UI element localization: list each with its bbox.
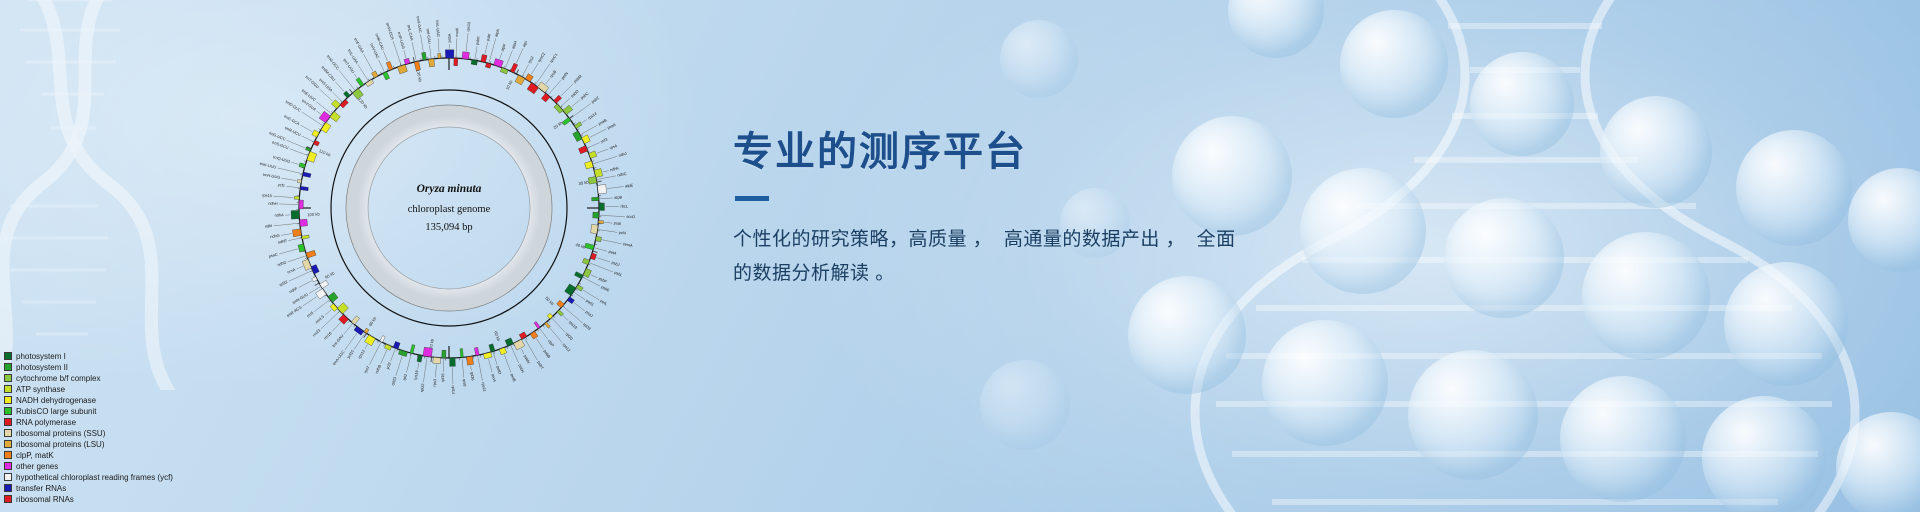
gene-feature	[500, 68, 508, 74]
gene-feature	[565, 284, 576, 296]
gene-feature	[460, 349, 463, 358]
gene-feature	[547, 313, 553, 319]
gene-label: rps3	[432, 379, 438, 387]
gene-feature	[474, 347, 479, 355]
molecule-bead	[1470, 52, 1574, 156]
kb-tick-label: 40 kb	[575, 242, 587, 250]
gene-feature	[585, 161, 594, 169]
legend-item: transfer RNAs	[4, 483, 173, 493]
gene-feature	[594, 169, 602, 178]
gene-label: ycf2	[385, 362, 392, 370]
gene-label: trnP-UGG	[397, 31, 407, 49]
gene-label: petB	[510, 373, 518, 383]
legend-color-swatch	[4, 429, 12, 437]
legend-color-swatch	[4, 363, 12, 371]
gene-label: ndhI	[265, 223, 273, 229]
gene-feature	[316, 289, 327, 299]
kb-tick-label: 10 kb	[505, 79, 514, 91]
gene-label: accD	[626, 214, 635, 219]
gene-feature	[592, 197, 599, 201]
gene-label: ndhF	[288, 285, 299, 294]
gene-label: ccsA	[286, 267, 296, 275]
gene-feature	[302, 259, 311, 270]
gene-feature	[438, 53, 441, 58]
gene-feature	[537, 82, 548, 93]
molecule-bead	[1848, 168, 1920, 272]
gene-label: ycf3	[600, 137, 609, 144]
legend-color-swatch	[4, 473, 12, 481]
gene-feature	[598, 220, 603, 223]
gene-feature	[597, 184, 606, 194]
gene-label: ndhA	[274, 212, 284, 217]
gene-label: psbI	[485, 33, 492, 41]
legend-color-swatch	[4, 407, 12, 415]
gene-label: psaI	[614, 220, 622, 226]
title-underline-rule	[735, 196, 769, 201]
gene-label: rpl22	[419, 383, 425, 392]
gene-feature	[467, 356, 474, 365]
gene-feature	[294, 196, 299, 199]
legend-color-swatch	[4, 495, 12, 503]
gene-label: trnV-GAC	[416, 16, 424, 33]
molecule-bead	[1128, 276, 1246, 394]
gene-label: ndhD	[277, 259, 288, 267]
gene-label: rps18	[568, 319, 579, 329]
legend-item: ATP synthase	[4, 384, 173, 394]
legend-color-swatch	[4, 462, 12, 470]
gene-feature	[519, 332, 527, 339]
gene-feature	[583, 268, 591, 277]
gene-feature	[525, 74, 533, 82]
gene-label: psbD	[570, 88, 580, 98]
kb-tick-label: 30 kb	[578, 179, 590, 186]
gene-label: rps19	[413, 370, 420, 381]
gene-label: rpoC2	[536, 51, 546, 63]
gene-label: psbA	[447, 33, 452, 42]
gene-feature	[514, 339, 525, 350]
page-title: 专业的测序平台	[733, 130, 1433, 174]
gene-feature	[299, 219, 307, 226]
molecule-bead	[1736, 130, 1852, 246]
gene-feature	[541, 93, 550, 102]
gene-feature	[445, 50, 454, 58]
gene-label: trnQ-UUG	[273, 154, 291, 164]
hero-subtitle-line-2: 的数据分析解读 。	[733, 257, 1263, 291]
kb-tick-label: 60 kb	[493, 330, 501, 342]
gene-feature	[312, 130, 320, 137]
gene-label: ndhC	[617, 171, 627, 178]
gene-feature	[454, 58, 458, 66]
gene-label: clpP	[547, 338, 556, 347]
gene-feature	[311, 265, 319, 274]
gene-label: petL	[599, 298, 609, 307]
gene-feature	[588, 176, 597, 184]
gene-feature	[494, 58, 504, 67]
gene-feature	[593, 212, 599, 218]
gene-feature	[590, 224, 598, 233]
gene-label: psbE	[600, 284, 611, 293]
molecule-bead	[1560, 376, 1686, 502]
kb-tick-label: 120 kb	[357, 97, 369, 110]
gene-feature	[481, 54, 487, 62]
gene-feature	[442, 350, 446, 358]
gene-label: ycf15	[346, 349, 355, 360]
gene-feature	[306, 250, 316, 258]
gene-feature	[397, 65, 407, 74]
gene-feature	[462, 52, 469, 60]
gene-feature	[300, 186, 308, 190]
gene-feature	[331, 100, 340, 109]
gene-label: trnG-UCC	[268, 130, 286, 141]
gene-label: psbK	[474, 35, 481, 45]
gene-feature	[562, 117, 571, 125]
gene-feature	[595, 236, 601, 241]
gene-feature	[505, 338, 513, 346]
gene-label: rpl33	[582, 322, 592, 331]
legend-item-label: ribosomal proteins (SSU)	[16, 429, 105, 438]
legend-color-swatch	[4, 440, 12, 448]
legend-item-label: ribosomal RNAs	[16, 495, 74, 504]
gene-label: trnR-UCU	[284, 125, 302, 137]
gene-feature	[534, 321, 540, 328]
kb-tick-label: 70 kb	[429, 338, 435, 349]
gene-label: cemA	[622, 241, 633, 248]
gene-label: rpl14	[451, 385, 456, 395]
gene-label: matK	[454, 27, 459, 37]
gene-label: ycf4	[618, 230, 627, 236]
gene-feature	[384, 344, 391, 350]
gene-label: ndhG	[270, 233, 280, 239]
legend-item-label: RNA polymerase	[16, 418, 76, 427]
gene-feature	[582, 135, 591, 144]
gene-feature	[545, 322, 551, 328]
gene-feature	[527, 83, 538, 94]
gene-label: rpl16	[440, 373, 445, 382]
legend-item-label: other genes	[16, 462, 58, 471]
gene-label: atpH	[510, 40, 518, 50]
legend-item-label: clpP, matK	[16, 451, 54, 460]
gene-label: psbT	[536, 360, 545, 371]
legend-color-swatch	[4, 396, 12, 404]
molecule-bead	[1702, 396, 1826, 512]
gene-label: rpoA	[491, 373, 498, 383]
molecule-bead	[1600, 96, 1712, 208]
gene-feature	[297, 179, 302, 183]
genome-map-svg: 10 kb20 kb30 kb40 kb50 kb60 kb70 kb80 kb…	[243, 2, 655, 414]
gene-label: psbM	[572, 74, 582, 84]
gene-label: ndhE	[277, 238, 287, 245]
gene-label: trnR-ACG	[286, 304, 303, 318]
gene-feature	[299, 163, 306, 168]
gene-label: psbH	[517, 363, 525, 374]
hero-banner: 10 kb20 kb30 kb40 kb50 kb60 kb70 kb80 kb…	[0, 0, 1920, 512]
gene-feature	[573, 131, 583, 142]
legend-item-label: hypothetical chloroplast reading frames …	[16, 473, 173, 482]
gene-label: rpl32	[278, 279, 288, 287]
gene-label: trnL-UAG	[435, 20, 441, 37]
molecule-bead	[1444, 198, 1564, 318]
gene-feature	[574, 272, 583, 279]
genome-species-name: Oryza minuta	[417, 183, 482, 195]
legend-item: ribosomal proteins (LSU)	[4, 439, 173, 449]
gene-label: psbF	[598, 276, 609, 284]
gene-feature	[302, 172, 311, 178]
legend-item: ribosomal RNAs	[4, 494, 173, 504]
kb-tick-label: 80 kb	[368, 315, 378, 327]
gene-feature	[471, 60, 477, 65]
gene-label: rps12	[562, 342, 572, 353]
gene-label: rpl36	[470, 372, 476, 381]
hero-subtitle: 个性化的研究策略，高质量 ， 高通量的数据产出 ， 全面 的数据分析解读 。	[733, 223, 1263, 291]
gene-label: psaJ	[585, 309, 595, 318]
gene-feature	[428, 59, 434, 67]
gene-label: atpI	[521, 40, 528, 48]
gene-feature	[530, 331, 538, 339]
gene-label: ndhB	[374, 364, 382, 375]
gene-feature	[307, 151, 317, 162]
gene-label: petD	[496, 365, 503, 375]
molecule-bead	[1340, 10, 1448, 118]
gene-feature	[510, 63, 517, 73]
legend-item: hypothetical chloroplast reading frames …	[4, 472, 173, 482]
gene-feature	[291, 210, 299, 219]
gene-feature	[599, 203, 605, 210]
gene-label: psaA	[606, 122, 617, 131]
gene-label: rps8	[462, 379, 468, 387]
gene-label: trnK-UUU	[259, 161, 277, 170]
legend-item: RubisCO large subunit	[4, 406, 173, 416]
gene-feature	[404, 58, 410, 64]
gene-label: trnS-GCU	[272, 140, 290, 151]
gene-feature	[328, 292, 338, 302]
gene-feature	[302, 235, 310, 239]
legend-item-label: ribosomal proteins (LSU)	[16, 440, 104, 449]
gene-feature	[330, 304, 338, 312]
genome-description: chloroplast genome	[408, 204, 491, 215]
legend-color-swatch	[4, 451, 12, 459]
gene-label: trnI-GAU	[331, 333, 345, 348]
gene-label: rps11	[481, 382, 488, 392]
gene-feature	[299, 200, 303, 209]
gene-label: petG	[585, 298, 595, 307]
gene-feature	[557, 300, 565, 307]
gene-label: trnD-GUC	[285, 99, 302, 113]
kb-tick-label: 50 kb	[544, 296, 555, 307]
gene-label: trnN-GUU	[291, 292, 309, 305]
legend-item-label: RubisCO large subunit	[16, 407, 96, 416]
gene-label: ndhJ	[618, 151, 628, 158]
legend-item: other genes	[4, 461, 173, 471]
legend-item: clpP, matK	[4, 450, 173, 460]
legend-item: NADH dehydrogenase	[4, 395, 173, 405]
gene-feature	[365, 335, 376, 346]
gene-label: rrn16	[323, 331, 333, 341]
gene-label: trnW-CCA	[385, 22, 395, 41]
gene-label: atpB	[614, 194, 623, 200]
gene-label: ndhH	[268, 201, 278, 206]
gene-label: rps2	[527, 55, 535, 64]
gene-label: rrn4.5	[314, 314, 325, 324]
legend-item: ribosomal proteins (SSU)	[4, 428, 173, 438]
gene-label: psbN	[523, 354, 532, 365]
molecule-bead	[1000, 20, 1078, 98]
legend-color-swatch	[4, 385, 12, 393]
gene-feature	[380, 336, 385, 343]
gene-label: rpoC1	[548, 52, 558, 64]
gene-label: psbZ	[590, 95, 600, 105]
molecule-bead	[1582, 232, 1710, 360]
legend-color-swatch	[4, 484, 12, 492]
gene-label: rpoB	[548, 69, 557, 79]
legend-item: photosystem II	[4, 362, 173, 372]
legend-item-label: photosystem II	[16, 363, 68, 372]
gene-label: rps12	[357, 349, 366, 360]
gene-label: psbC	[579, 91, 589, 101]
kb-tick-label: 90 kb	[324, 270, 336, 280]
kb-tick-label: 130 kb	[415, 69, 423, 83]
gene-label: rpl2	[402, 373, 408, 381]
gene-feature	[366, 79, 374, 86]
chloroplast-genome-map: 10 kb20 kb30 kb40 kb50 kb60 kb70 kb80 kb…	[243, 2, 655, 414]
gene-label: psbL	[614, 270, 624, 278]
gene-feature	[330, 111, 341, 121]
gene-label: rrn5	[306, 310, 315, 318]
molecule-bead	[1408, 350, 1538, 480]
gene-feature	[433, 357, 441, 364]
kb-tick-label: 100 kb	[307, 211, 321, 217]
gene-label: trnL-CAA	[406, 24, 414, 41]
gene-label: ndhK	[609, 165, 619, 172]
gene-feature	[383, 72, 390, 80]
gene-label: atpE	[625, 182, 634, 188]
gene-label: atpF	[500, 42, 507, 52]
gene-label: psbJ	[611, 260, 620, 267]
legend-item-label: ATP synthase	[16, 385, 65, 394]
gene-label: rps4	[609, 143, 619, 151]
legend-item: RNA polymerase	[4, 417, 173, 427]
gene-feature	[410, 345, 415, 354]
legend-item-label: cytochrome b/f complex	[16, 374, 100, 383]
gene-feature	[515, 75, 525, 85]
gene-label: trnT-GGU	[304, 74, 320, 89]
gene-label: rrn23	[311, 328, 321, 338]
genome-length: 135,094 bp	[425, 222, 472, 233]
gene-feature	[450, 358, 456, 366]
gene-label: rps15	[262, 192, 272, 198]
gene-label: rps16	[465, 22, 471, 32]
molecule-bead	[1724, 262, 1848, 386]
gene-feature	[489, 344, 495, 352]
molecule-bead	[1262, 320, 1388, 446]
gene-label: trnH-GUG	[263, 172, 281, 180]
hero-subtitle-line-1: 个性化的研究策略，高质量 ， 高通量的数据产出 ， 全面	[733, 223, 1263, 257]
legend-color-swatch	[4, 418, 12, 426]
molecule-bead	[980, 360, 1070, 450]
gene-label: atpA	[493, 28, 500, 37]
genome-map-legend: photosystem Iphotosystem IIcytochrome b/…	[4, 351, 173, 504]
gene-label: rpl20	[565, 331, 575, 341]
gene-label: petN	[560, 71, 569, 81]
legend-item: photosystem I	[4, 351, 173, 361]
kb-tick-label: 110 kb	[318, 148, 332, 158]
gene-label: trnA-UGC	[331, 349, 345, 366]
legend-item-label: NADH dehydrogenase	[16, 396, 96, 405]
gene-label: trnI-CAU	[426, 28, 433, 44]
gene-label: ycf1	[278, 182, 286, 188]
gene-feature	[354, 326, 364, 335]
gene-label: trnF-GAA	[353, 37, 366, 54]
legend-item-label: transfer RNAs	[16, 484, 66, 493]
legend-color-swatch	[4, 374, 12, 382]
gene-label: psaC	[268, 251, 278, 258]
gene-label: psbB	[543, 349, 552, 359]
gene-label: rps7	[363, 365, 371, 374]
gene-feature	[398, 350, 407, 357]
legend-item: cytochrome b/f complex	[4, 373, 173, 383]
legend-item-label: photosystem I	[16, 352, 66, 361]
gene-feature	[319, 111, 330, 123]
hero-copy-block: 专业的测序平台 个性化的研究策略，高质量 ， 高通量的数据产出 ， 全面 的数据…	[733, 130, 1433, 291]
gene-feature	[563, 105, 573, 115]
molecule-bead	[1836, 412, 1920, 512]
gene-feature	[292, 229, 301, 237]
gene-feature	[422, 52, 427, 60]
kb-tick-label: 20 kb	[552, 120, 564, 131]
gene-label: rpl23	[390, 376, 397, 386]
gene-label: rps14	[587, 110, 599, 120]
gene-label: petA	[608, 249, 617, 256]
gene-label: rbcL	[620, 204, 628, 209]
legend-color-swatch	[4, 352, 12, 360]
gene-feature	[356, 78, 364, 87]
gene-feature	[321, 122, 331, 133]
molecule-bead	[1228, 0, 1324, 58]
